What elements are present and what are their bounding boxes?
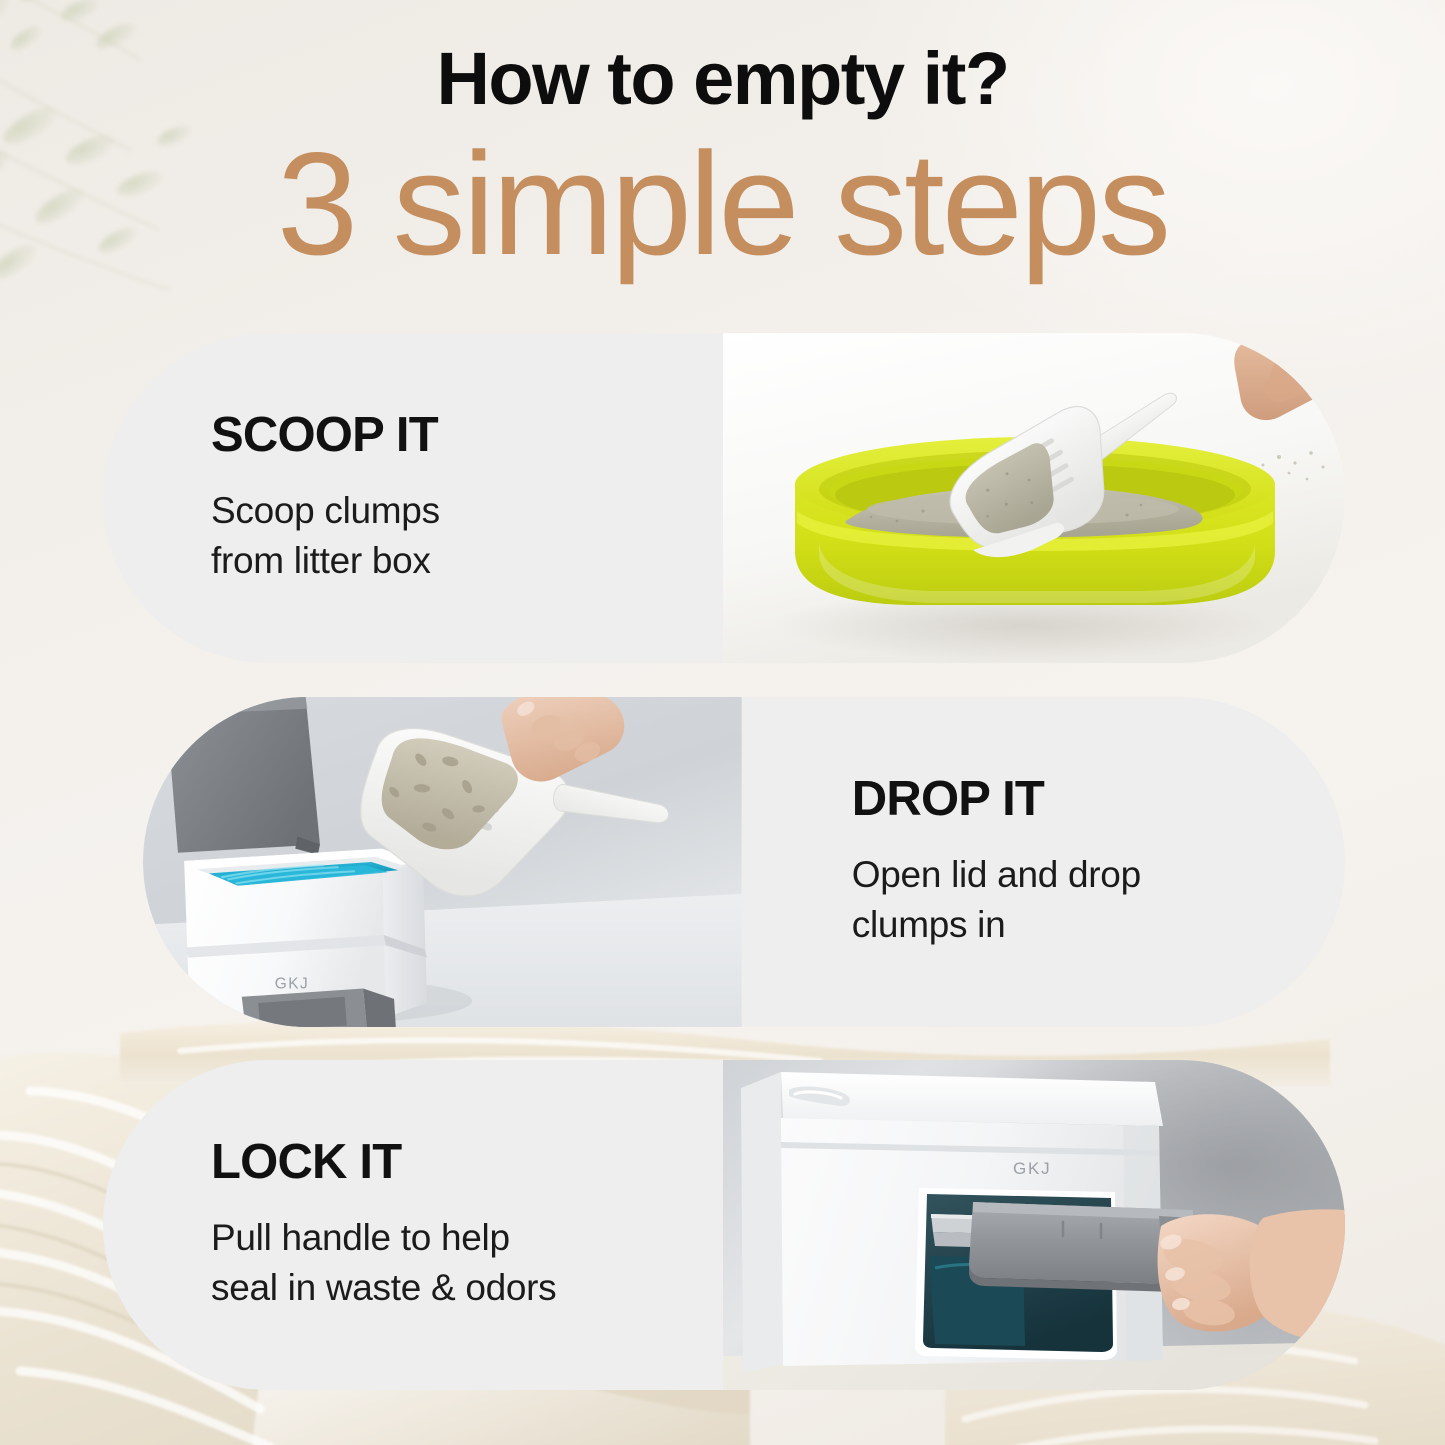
step-card-scoop-it: SCOOP IT Scoop clumps from litter box (103, 333, 723, 663)
step-desc-line-2: from litter box (211, 540, 431, 581)
step-row-lock-it: LOCK IT Pull handle to help seal in wast… (103, 1060, 1345, 1390)
step-card-lock-it: LOCK IT Pull handle to help seal in wast… (103, 1060, 723, 1390)
page-subtitle: 3 simple steps (0, 122, 1445, 286)
step-photo-drop-clumps-into-open-bin: GKJ (143, 697, 742, 1027)
step-desc-line-1: Pull handle to help (211, 1217, 510, 1258)
step-description-lock-it: Pull handle to help seal in waste & odor… (211, 1213, 683, 1311)
infographic-page: How to empty it? 3 simple steps SCOOP IT… (0, 0, 1445, 1445)
heading-block: How to empty it? 3 simple steps (0, 42, 1445, 286)
step-card-drop-it: DROP IT Open lid and drop clumps in (742, 697, 1345, 1027)
step-row-scoop-it: SCOOP IT Scoop clumps from litter box (103, 333, 1345, 663)
step-photo-pull-handle-to-seal-bin: GKJ (723, 1060, 1345, 1390)
step-title-lock-it: LOCK IT (211, 1138, 683, 1187)
step-description-scoop-it: Scoop clumps from litter box (211, 486, 683, 584)
step-title-drop-it: DROP IT (852, 775, 1285, 824)
product-brand-label-row2: GKJ (275, 976, 310, 993)
product-brand-label-row3: GKJ (1013, 1159, 1051, 1178)
step-row-drop-it: GKJ (143, 697, 1345, 1027)
step-description-drop-it: Open lid and drop clumps in (852, 850, 1285, 948)
page-title: How to empty it? (0, 42, 1445, 116)
step-title-scoop-it: SCOOP IT (211, 411, 683, 460)
step-photo-scoop-over-yellow-litter-tray (723, 333, 1345, 663)
step-desc-line-1: Open lid and drop (852, 854, 1141, 895)
step-desc-line-2: clumps in (852, 904, 1006, 945)
step-desc-line-1: Scoop clumps (211, 490, 440, 531)
step-desc-line-2: seal in waste & odors (211, 1267, 556, 1308)
